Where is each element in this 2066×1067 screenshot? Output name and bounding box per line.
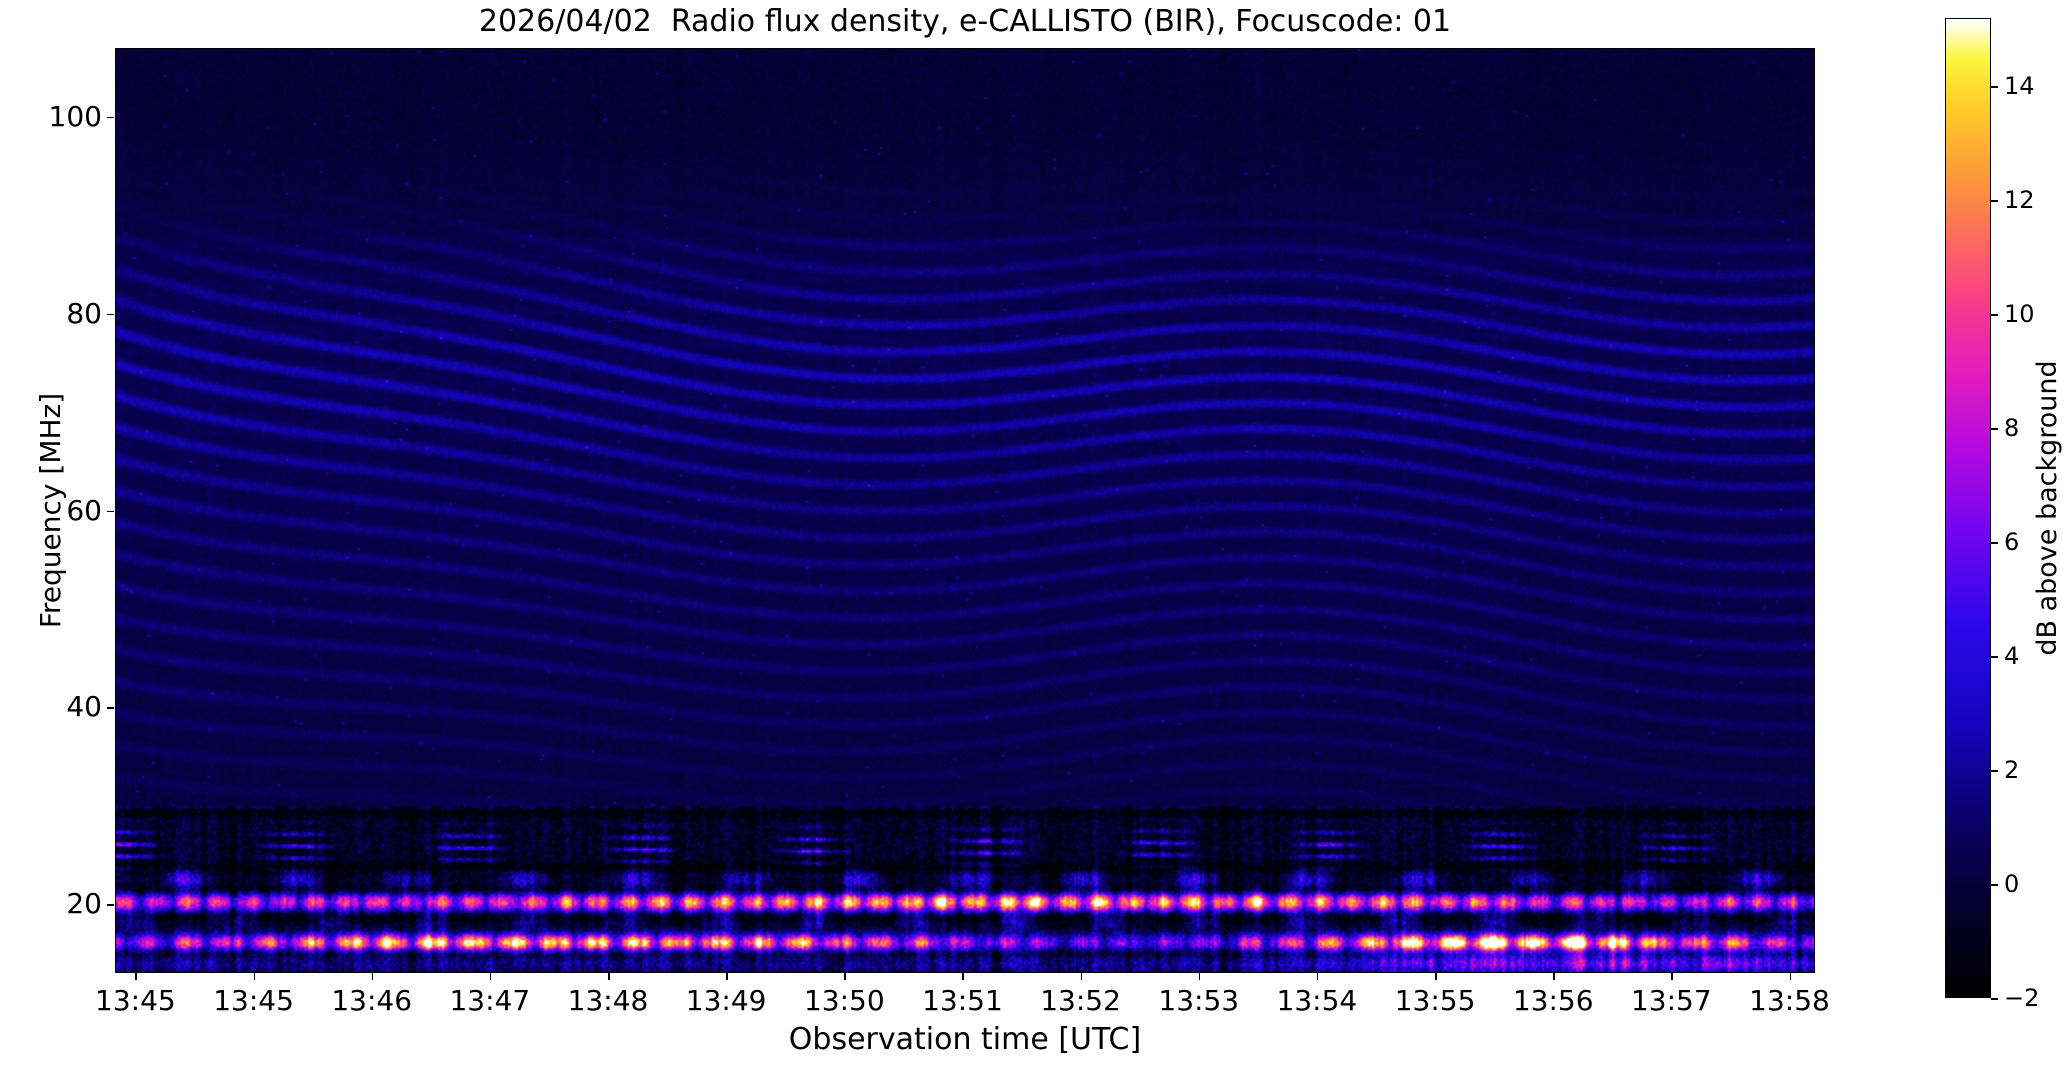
colorbar-tick-mark xyxy=(1991,314,1998,316)
colorbar-tick-mark xyxy=(1991,998,1998,1000)
x-tick-mark xyxy=(1081,973,1083,980)
spectrogram-image xyxy=(116,49,1815,973)
x-tick-mark xyxy=(1435,973,1437,980)
x-tick-mark xyxy=(1553,973,1555,980)
x-tick-mark xyxy=(1199,973,1201,980)
y-tick-label: 40 xyxy=(12,693,102,721)
colorbar[interactable] xyxy=(1945,18,1991,998)
x-tick-mark xyxy=(372,973,374,980)
x-tick-mark xyxy=(1790,973,1792,980)
x-tick-mark xyxy=(608,973,610,980)
x-tick-mark xyxy=(135,973,137,980)
y-tick-label: 100 xyxy=(12,103,102,131)
figure-canvas: 2026/04/02 Radio flux density, e-CALLIST… xyxy=(0,0,2066,1067)
x-tick-mark xyxy=(962,973,964,980)
colorbar-gradient xyxy=(1946,19,1990,997)
y-tick-mark xyxy=(107,314,114,316)
x-tick-mark xyxy=(254,973,256,980)
colorbar-tick-mark xyxy=(1991,86,1998,88)
y-tick-mark xyxy=(107,707,114,709)
y-tick-label: 20 xyxy=(12,890,102,918)
colorbar-tick-mark xyxy=(1991,770,1998,772)
y-tick-mark xyxy=(107,511,114,513)
colorbar-tick-mark xyxy=(1991,884,1998,886)
x-tick-label: 13:58 xyxy=(1710,987,1870,1015)
colorbar-tick-mark xyxy=(1991,656,1998,658)
colorbar-tick-mark xyxy=(1991,428,1998,430)
x-tick-mark xyxy=(490,973,492,980)
y-tick-mark xyxy=(107,904,114,906)
colorbar-tick-mark xyxy=(1991,200,1998,202)
x-tick-mark xyxy=(1317,973,1319,980)
y-tick-label: 60 xyxy=(12,497,102,525)
x-tick-mark xyxy=(844,973,846,980)
colorbar-label: dB above background xyxy=(2032,18,2064,998)
y-tick-mark xyxy=(107,117,114,119)
x-tick-mark xyxy=(1671,973,1673,980)
y-tick-label: 80 xyxy=(12,300,102,328)
x-axis-label: Observation time [UTC] xyxy=(115,1022,1815,1057)
x-tick-mark xyxy=(726,973,728,980)
spectrogram-axes[interactable] xyxy=(115,48,1815,973)
colorbar-tick-mark xyxy=(1991,542,1998,544)
page-title: 2026/04/02 Radio flux density, e-CALLIST… xyxy=(115,4,1815,39)
